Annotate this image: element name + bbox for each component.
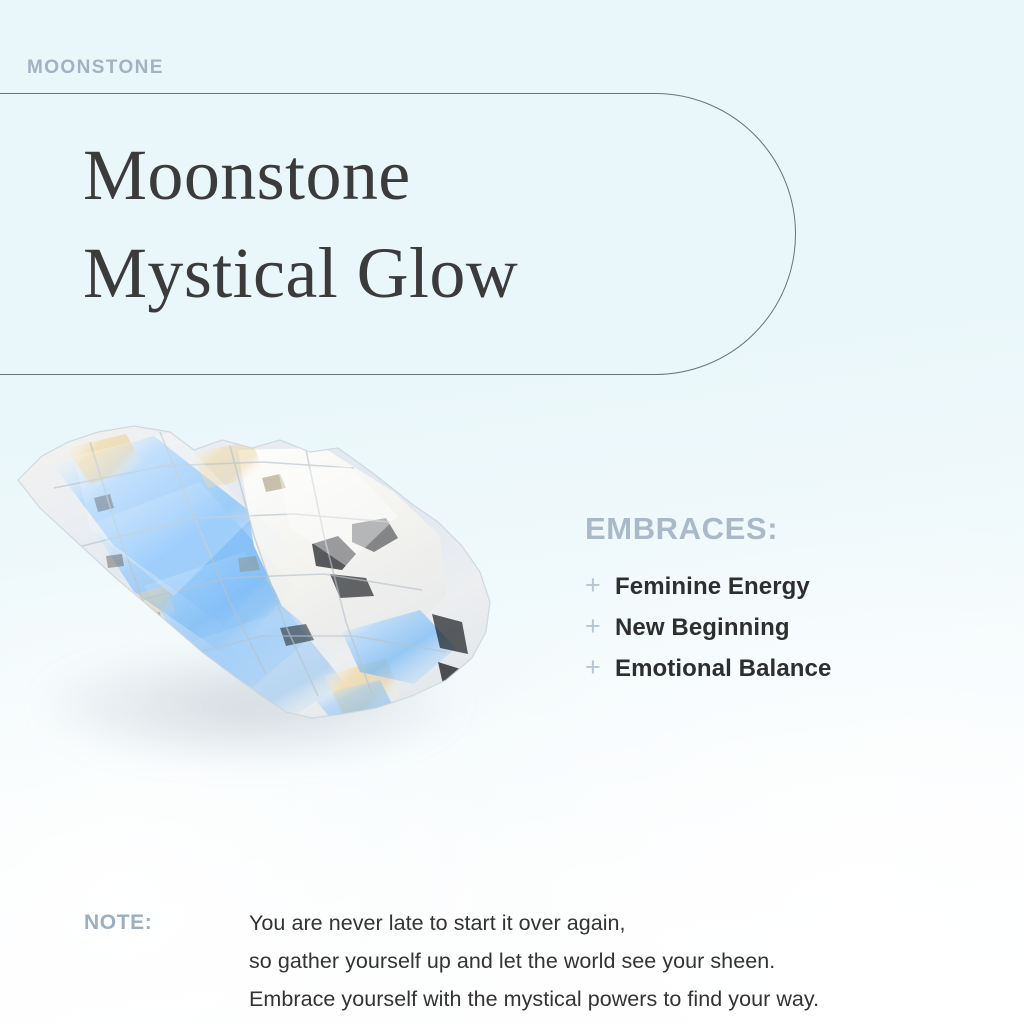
embraces-item-label: Feminine Energy [615,574,810,599]
poster-root: MOONSTONE Moonstone Mystical Glow [0,0,1024,1024]
moonstone-illustration [0,396,524,786]
embraces-item-label: Emotional Balance [615,656,831,681]
plus-icon: + [585,654,615,681]
embraces-heading: EMBRACES: [585,512,1005,546]
embraces-item-label: New Beginning [615,615,790,640]
list-item: + New Beginning [585,613,1005,640]
list-item: + Emotional Balance [585,654,1005,681]
embraces-section: EMBRACES: + Feminine Energy + New Beginn… [585,512,1005,696]
plus-icon: + [585,613,615,640]
note-section: NOTE: You are never late to start it ove… [84,904,984,1018]
moonstone-image [0,396,524,786]
page-title: Moonstone Mystical Glow [83,126,763,322]
list-item: + Feminine Energy [585,572,1005,599]
note-label: NOTE: [84,904,249,942]
eyebrow-label: MOONSTONE [27,58,164,77]
embraces-list: + Feminine Energy + New Beginning + Emot… [585,572,1005,682]
note-text: You are never late to start it over agai… [249,904,819,1018]
plus-icon: + [585,572,615,599]
